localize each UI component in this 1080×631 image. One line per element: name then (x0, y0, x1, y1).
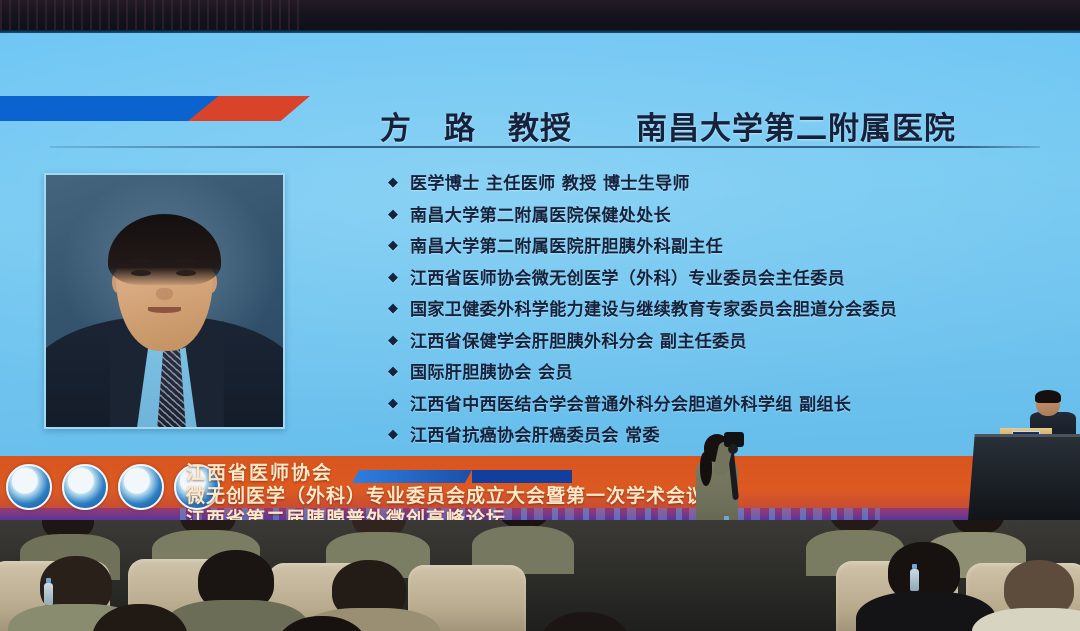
diamond-bullet-icon: ◆ (388, 207, 410, 220)
audience-area (0, 520, 1080, 631)
list-item-label: 国家卫健委外科学能力建设与继续教育专家委员会胆道分会委员 (410, 295, 897, 320)
diamond-bullet-icon: ◆ (388, 396, 410, 409)
portrait-eyebrow-left (129, 259, 153, 264)
chairperson-hair (1035, 390, 1061, 403)
photographer-ponytail (700, 452, 712, 486)
hall-ceiling-band (0, 0, 1080, 32)
list-item-label: 医学博士 主任医师 教授 博士生导师 (410, 169, 690, 194)
water-bottle (44, 583, 53, 605)
organization-logo-icon (62, 464, 108, 510)
list-item-label: 江西省医师协会微无创医学（外科）专业委员会主任委员 (410, 264, 845, 289)
list-item: ◆ 江西省保健学会肝胆胰外科分会 副主任委员 (388, 324, 1048, 356)
title-underline (50, 146, 1040, 148)
credentials-list: ◆ 医学博士 主任医师 教授 博士生导师 ◆ 南昌大学第二附属医院保健处处长 ◆… (388, 166, 1048, 456)
diamond-bullet-icon: ◆ (388, 238, 410, 251)
diamond-bullet-icon: ◆ (388, 301, 410, 314)
organization-logo-icon (118, 464, 164, 510)
list-item: ◆ 国家卫健委外科学能力建设与继续教育专家委员会胆道分会委员 (388, 292, 1048, 324)
list-item: ◆ 国际肝胆胰协会 会员 (388, 355, 1048, 387)
diamond-bullet-icon: ◆ (388, 175, 410, 188)
audience-head-front (540, 612, 630, 631)
diamond-bullet-icon: ◆ (388, 270, 410, 283)
list-item-label: 江西省保健学会肝胆胰外科分会 副主任委员 (410, 327, 747, 352)
list-item: ◆ 医学博士 主任医师 教授 博士生导师 (388, 166, 1048, 198)
portrait-eyebrow-right (175, 259, 199, 264)
podium-desk (968, 434, 1080, 520)
list-item: ◆ 南昌大学第二附属医院肝胆胰外科副主任 (388, 229, 1048, 261)
slide-title: 方 路 教授 南昌大学第二附属医院 (380, 103, 980, 148)
diamond-bullet-icon: ◆ (388, 364, 410, 377)
list-item: ◆ 南昌大学第二附属医院保健处处长 (388, 198, 1048, 230)
list-item-label: 国际肝胆胰协会 会员 (410, 358, 573, 383)
water-bottle (910, 569, 919, 591)
diamond-bullet-icon: ◆ (388, 333, 410, 346)
list-item-label: 南昌大学第二附属医院肝胆胰外科副主任 (410, 232, 723, 257)
conference-photo-scene: 方 路 教授 南昌大学第二附属医院 ◆ (0, 0, 1080, 631)
projection-slide: 方 路 教授 南昌大学第二附属医院 ◆ (0, 33, 1080, 456)
list-item: ◆ 江西省医师协会微无创医学（外科）专业委员会主任委员 (388, 261, 1048, 293)
portrait-eye-right (176, 270, 196, 277)
portrait-nose (156, 288, 173, 299)
speaker-portrait (44, 173, 285, 429)
portrait-eye-left (131, 270, 151, 277)
organization-logo-icon (6, 464, 52, 510)
list-item-label: 南昌大学第二附属医院保健处处长 (410, 201, 671, 226)
list-item: ◆ 江西省中西医结合学会普通外科分会胆道外科学组 副组长 (388, 387, 1048, 419)
camera-icon (724, 432, 744, 447)
diamond-bullet-icon: ◆ (388, 427, 410, 440)
slide-accent-decoration (0, 96, 350, 121)
list-item-label: 江西省中西医结合学会普通外科分会胆道外科学组 副组长 (410, 390, 851, 415)
list-item-label: 江西省抗癌协会肝癌委员会 常委 (410, 421, 660, 446)
